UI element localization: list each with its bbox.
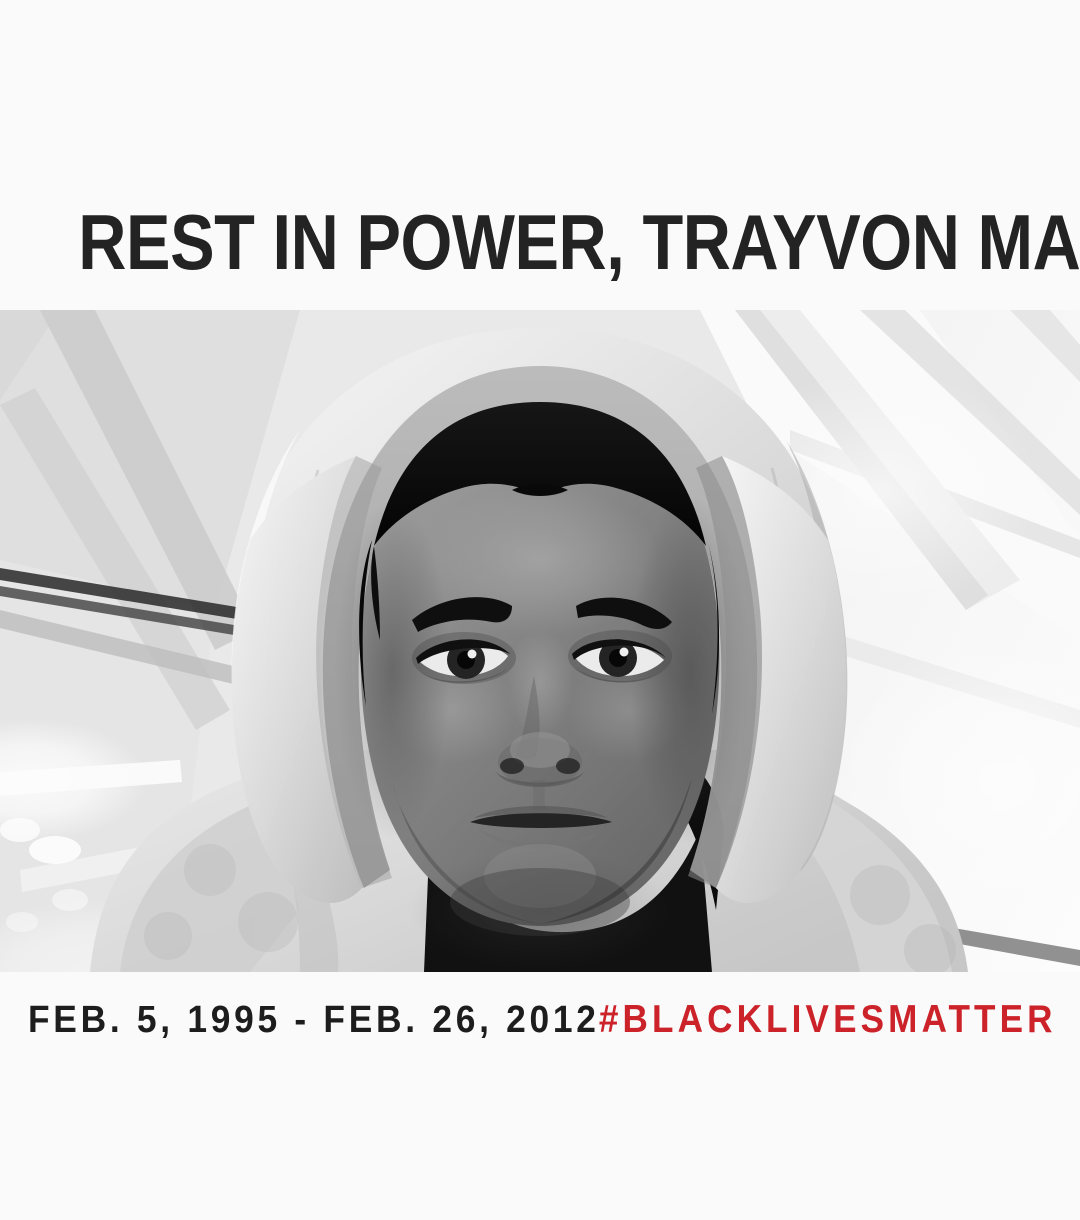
portrait-illustration [0,310,1080,972]
footer-band: FEB. 5, 1995 - FEB. 26, 2012 #BLACKLIVES… [0,972,1080,1220]
memorial-card: REST IN POWER, TRAYVON MARTIN [0,0,1080,1220]
title-band: REST IN POWER, TRAYVON MARTIN [0,0,1080,310]
page-title: REST IN POWER, TRAYVON MARTIN [78,200,1001,284]
hashtag-blacklivesmatter: #BLACKLIVESMATTER [599,1000,1057,1040]
life-dates: FEB. 5, 1995 - FEB. 26, 2012 [28,1000,600,1040]
portrait-photo [0,310,1080,972]
